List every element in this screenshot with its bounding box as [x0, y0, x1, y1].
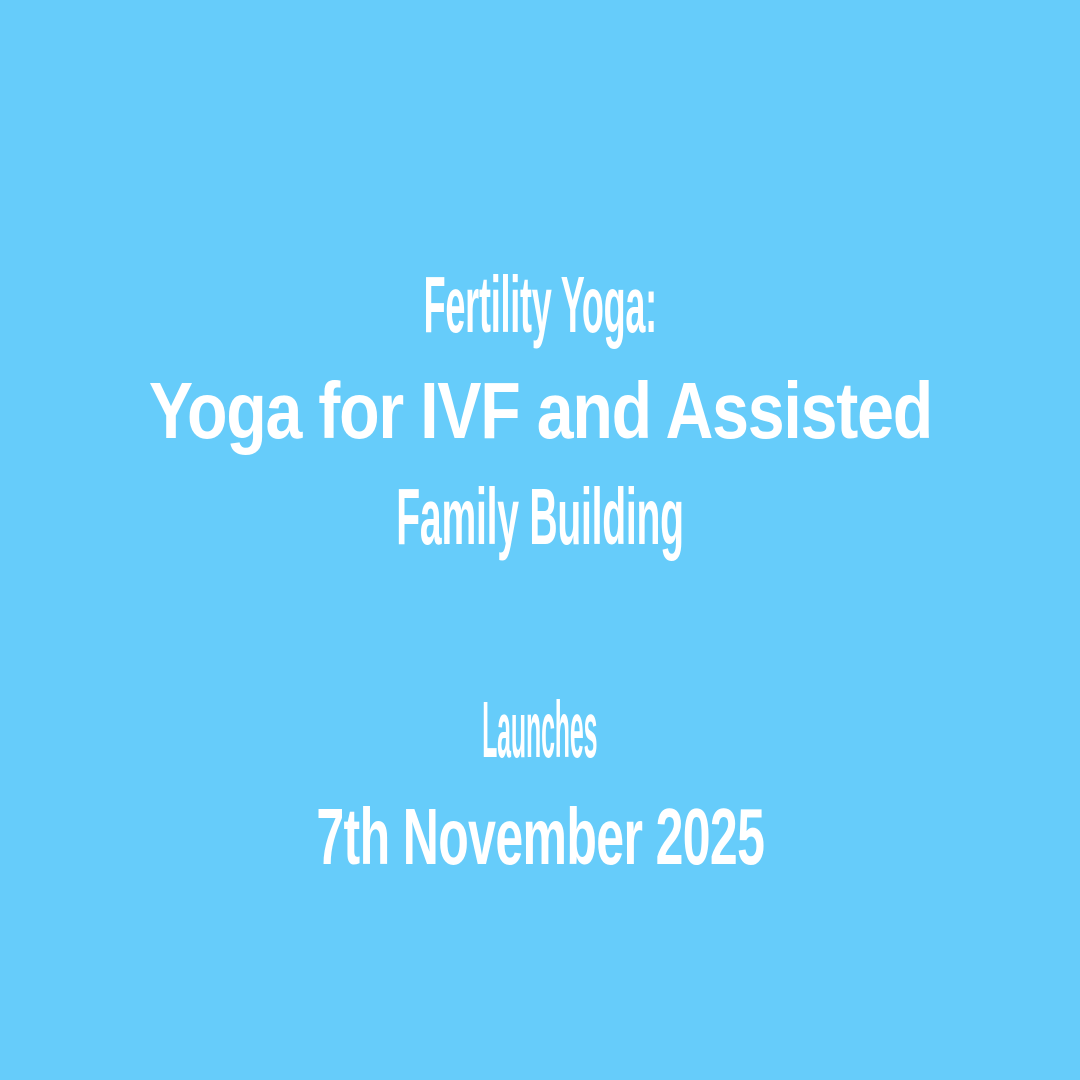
title-line-2: Yoga for IVF and Assisted [148, 358, 931, 464]
title-line-1: Fertility Yoga: [423, 252, 656, 358]
launch-label: Launches [482, 676, 597, 783]
title-line-3: Family Building [396, 464, 684, 570]
launch-block: Launches 7th November 2025 [0, 676, 1080, 890]
launch-date: 7th November 2025 [316, 783, 764, 890]
title-block: Fertility Yoga: Yoga for IVF and Assiste… [0, 252, 1080, 570]
announcement-card: Fertility Yoga: Yoga for IVF and Assiste… [0, 0, 1080, 1080]
block-spacer [0, 570, 1080, 676]
